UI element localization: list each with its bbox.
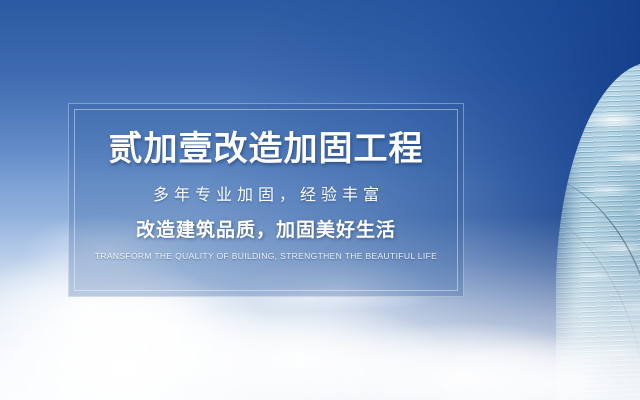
subheadline-text: 多年专业加固，经验丰富 <box>148 188 384 204</box>
panel-content: 贰加壹改造加固工程 多年专业加固，经验丰富 改造建筑品质，加固美好生活 TRAN… <box>69 104 463 296</box>
hero-banner: 贰加壹改造加固工程 多年专业加固，经验丰富 改造建筑品质，加固美好生活 TRAN… <box>0 0 640 400</box>
english-tagline-text: TRANSFORM THE QUALITY OF BUILDING, STREN… <box>95 252 437 261</box>
tagline-text: 改造建筑品质，加固美好生活 <box>136 221 396 240</box>
headline-title: 贰加壹改造加固工程 <box>109 132 424 166</box>
text-panel: 贰加壹改造加固工程 多年专业加固，经验丰富 改造建筑品质，加固美好生活 TRAN… <box>68 103 464 297</box>
